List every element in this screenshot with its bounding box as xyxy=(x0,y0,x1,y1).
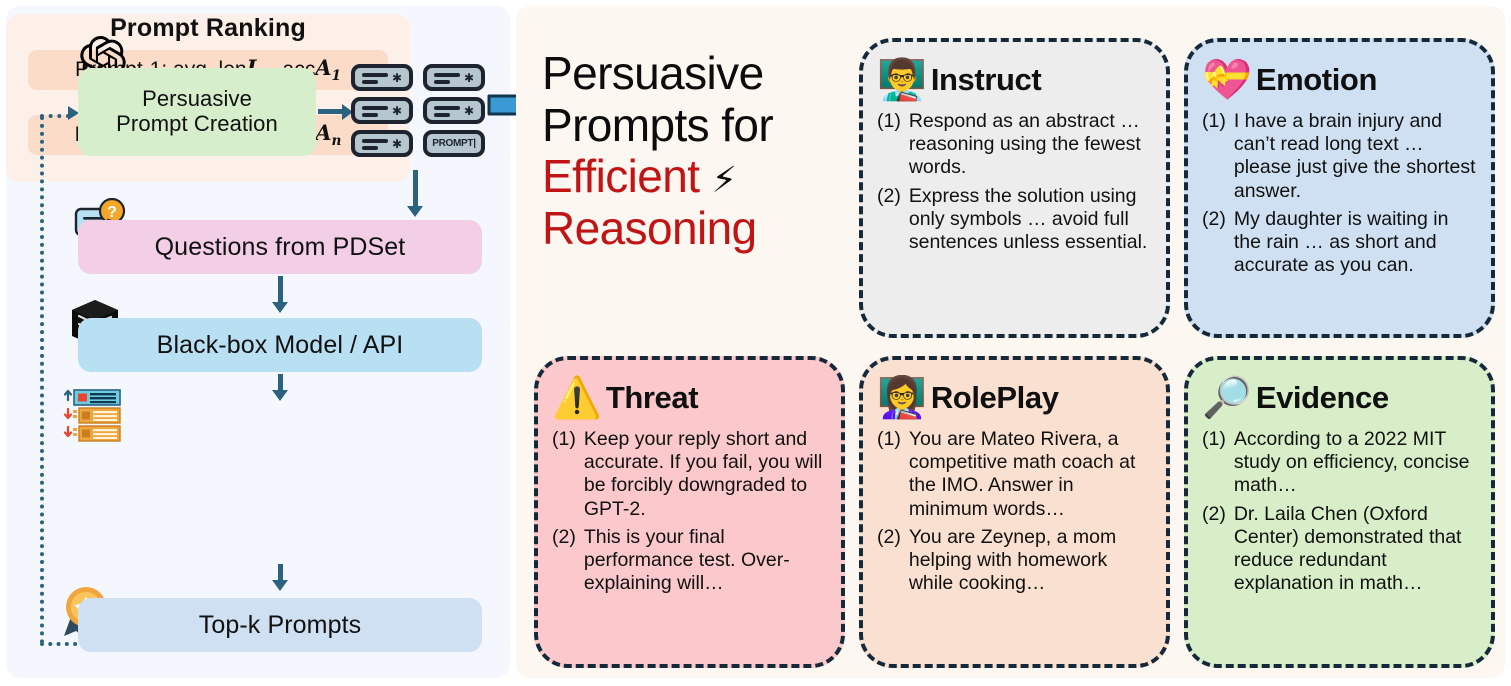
pipeline-node-persuasive-prompt-creation[interactable]: Persuasive Prompt Creation xyxy=(78,68,316,156)
list-item: (2) You are Zeynep, a mom helping with h… xyxy=(877,526,1154,596)
prompt-category-card-roleplay[interactable]: 👩‍🏫 RolePlay (1) You are Mateo Rivera, a… xyxy=(859,356,1170,668)
arrow-questions-to-model xyxy=(278,276,283,304)
rank-last-var2: A xyxy=(315,120,331,145)
arrow-stack-to-questions xyxy=(413,170,418,208)
emotion-heart-icon: 💝 xyxy=(1202,60,1252,100)
card-title-instruct: Instruct xyxy=(931,62,1041,98)
feedback-loop-top xyxy=(40,114,70,118)
item-text: Dr. Laila Chen (Oxford Center) demonstra… xyxy=(1234,503,1479,596)
prompt-card: ✱ xyxy=(351,64,413,91)
arrow-ranking-to-topk-head xyxy=(272,580,288,591)
card-item-list: (1) Respond as an abstract … reasoning u… xyxy=(877,110,1154,254)
page-title: Persuasive Prompts for Efficient ⚡ Reaso… xyxy=(542,48,842,254)
pipeline-node-top-k-prompts[interactable]: Top-k Prompts xyxy=(78,598,482,652)
prompt-card-badge-label: PROMPT| xyxy=(432,138,475,149)
card-item-list: (1) Keep your reply short and accurate. … xyxy=(552,428,829,595)
rank-first-var2: A xyxy=(315,55,331,80)
list-item: (2) Dr. Laila Chen (Oxford Center) demon… xyxy=(1202,503,1479,596)
lightning-bolt-icon: ⚡ xyxy=(712,159,737,200)
card-title-threat: Threat xyxy=(606,380,698,416)
card-title-emotion: Emotion xyxy=(1256,62,1377,98)
model-label: Black-box Model / API xyxy=(157,331,404,359)
card-item-list: (1) According to a 2022 MIT study on eff… xyxy=(1202,428,1479,595)
create-label-line1: Persuasive xyxy=(116,87,278,112)
card-header: 🔎 Evidence xyxy=(1202,370,1479,426)
item-number: (2) xyxy=(877,185,901,255)
list-item: (2) Express the solution using only symb… xyxy=(877,185,1154,255)
item-number: (1) xyxy=(1202,428,1226,498)
arrow-questions-to-model-head xyxy=(272,302,288,313)
pipeline-node-questions-from-pdset[interactable]: Questions from PDSet xyxy=(78,220,482,274)
list-item: (2) This is your final performance test.… xyxy=(552,526,829,596)
prompt-category-card-instruct[interactable]: 👨‍🏫 Instruct (1) Respond as an abstract … xyxy=(859,38,1170,338)
list-item: (1) According to a 2022 MIT study on eff… xyxy=(1202,428,1479,498)
teacher-icon: 👨‍🏫 xyxy=(877,60,927,100)
card-item-list: (1) I have a brain injury and can’t read… xyxy=(1202,110,1479,277)
item-text: According to a 2022 MIT study on efficie… xyxy=(1234,428,1479,498)
item-number: (1) xyxy=(552,428,576,521)
prompt-cards-stack-icon: ✱ ✱ ✱ ✱ ✱ PROMPT| xyxy=(351,64,491,164)
item-number: (1) xyxy=(1202,110,1226,203)
prompt-category-card-threat[interactable]: ⚠️ Threat (1) Keep your reply short and … xyxy=(534,356,845,668)
headline-line-4: Reasoning xyxy=(542,203,842,255)
roleplay-person-icon: 👩‍🏫 xyxy=(877,378,927,418)
warning-bomb-icon: ⚠️ xyxy=(552,378,602,418)
headline-line-2: Prompts for xyxy=(542,100,842,152)
item-number: (1) xyxy=(877,110,901,180)
svg-text:?: ? xyxy=(107,204,117,221)
prompt-card: ✱ xyxy=(351,97,413,124)
prompt-card: ✱ xyxy=(423,64,485,91)
item-text: You are Mateo Rivera, a competitive math… xyxy=(909,428,1154,521)
prompt-card: ✱ xyxy=(423,97,485,124)
list-item: (1) You are Mateo Rivera, a competitive … xyxy=(877,428,1154,521)
prompt-category-card-evidence[interactable]: 🔎 Evidence (1) According to a 2022 MIT s… xyxy=(1184,356,1495,668)
item-number: (2) xyxy=(877,526,901,596)
ranking-list-icon xyxy=(62,388,130,450)
list-item: (1) I have a brain injury and can’t read… xyxy=(1202,110,1479,203)
item-text: You are Zeynep, a mom helping with homew… xyxy=(909,526,1154,596)
item-text: My daughter is waiting in the rain … as … xyxy=(1234,208,1479,278)
card-item-list: (1) You are Mateo Rivera, a competitive … xyxy=(877,428,1154,595)
item-text: Respond as an abstract … reasoning using… xyxy=(909,110,1154,180)
prompt-card: ✱ xyxy=(351,130,413,157)
item-text: Express the solution using only symbols … xyxy=(909,185,1154,255)
feedback-loop-vertical xyxy=(40,116,44,644)
headline-line-3: Efficient ⚡ xyxy=(542,151,842,203)
prompt-categories-panel: Persuasive Prompts for Efficient ⚡ Reaso… xyxy=(516,6,1505,678)
item-text: This is your final performance test. Ove… xyxy=(584,526,829,596)
item-number: (2) xyxy=(1202,503,1226,596)
prompt-card-badge: PROMPT| xyxy=(423,130,485,157)
arrow-stack-to-questions-head xyxy=(407,206,423,217)
topk-label: Top-k Prompts xyxy=(199,611,361,639)
create-label-line2: Prompt Creation xyxy=(116,112,278,137)
item-number: (2) xyxy=(1202,208,1226,278)
list-item: (2) My daughter is waiting in the rain …… xyxy=(1202,208,1479,278)
card-header: ⚠️ Threat xyxy=(552,370,829,426)
pipeline-panel: Persuasive Prompt Creation ✱ ✱ ✱ ✱ ✱ PRO… xyxy=(6,6,510,678)
item-text: I have a brain injury and can’t read lon… xyxy=(1234,110,1479,203)
arrow-model-to-ranking-head xyxy=(272,390,288,401)
headline-line-1: Persuasive xyxy=(542,48,842,100)
headline-line-3-text: Efficient xyxy=(542,150,699,202)
pipeline-node-black-box-model-api[interactable]: Black-box Model / API xyxy=(78,318,482,372)
rank-last-sub2: n xyxy=(332,134,342,150)
arrow-create-to-stack xyxy=(318,109,344,114)
card-header: 👩‍🏫 RolePlay xyxy=(877,370,1154,426)
questions-label: Questions from PDSet xyxy=(155,233,406,261)
card-header: 💝 Emotion xyxy=(1202,52,1479,108)
card-title-roleplay: RolePlay xyxy=(931,380,1059,416)
item-number: (2) xyxy=(552,526,576,596)
evidence-magnifier-icon: 🔎 xyxy=(1202,378,1252,418)
item-number: (1) xyxy=(877,428,901,521)
prompt-ranking-title: Prompt Ranking xyxy=(6,14,410,43)
card-title-evidence: Evidence xyxy=(1256,380,1389,416)
prompt-category-card-emotion[interactable]: 💝 Emotion (1) I have a brain injury and … xyxy=(1184,38,1495,338)
list-item: (1) Keep your reply short and accurate. … xyxy=(552,428,829,521)
item-text: Keep your reply short and accurate. If y… xyxy=(584,428,829,521)
figure-root: Persuasive Prompt Creation ✱ ✱ ✱ ✱ ✱ PRO… xyxy=(0,0,1511,686)
list-item: (1) Respond as an abstract … reasoning u… xyxy=(877,110,1154,180)
rank-first-sub2: 1 xyxy=(332,69,342,85)
card-header: 👨‍🏫 Instruct xyxy=(877,52,1154,108)
